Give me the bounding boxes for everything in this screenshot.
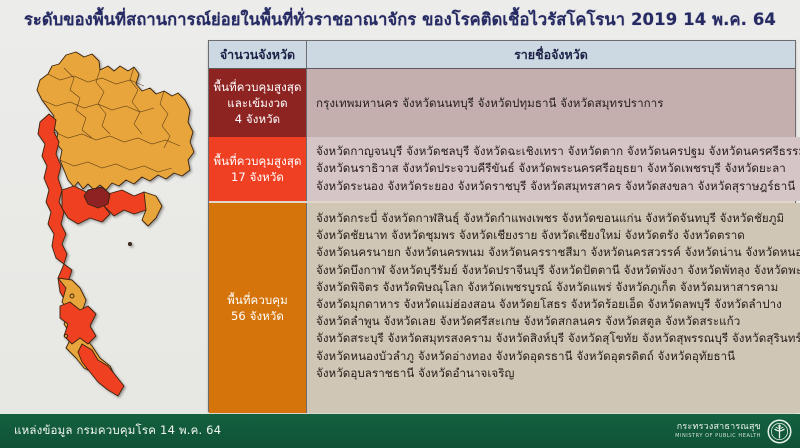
province-line: จังหวัดกาญจนบุรี จังหวัดชลบุรี จังหวัดฉะ… (316, 143, 800, 160)
zone-name: พื้นที่ควบคุมสูงสุด (213, 153, 301, 169)
province-list: จังหวัดกระบี่ จังหวัดกาฬสินธุ์ จังหวัดกำ… (316, 210, 800, 382)
zone-name: พื้นที่ควบคุม (227, 292, 288, 308)
province-line: จังหวัดสระบุรี จังหวัดสมุทรสงคราม จังหวั… (316, 330, 800, 347)
province-line: จังหวัดอุบลราชธานี จังหวัดอำนาจเจริญ (316, 365, 800, 382)
footer-source-text: แหล่งข้อมูล กรมควบคุมโรค 14 พ.ค. 64 (14, 422, 221, 440)
slide-root: ระดับของพื้นที่สถานการณ์ย่อยในพื้นที่ทั่… (0, 0, 800, 448)
moph-brand-english: MINISTRY OF PUBLIC HEALTH (675, 434, 761, 439)
province-line: จังหวัดนครนายก จังหวัดนครพนม จังหวัดนครร… (316, 244, 800, 261)
table-row: พื้นที่ควบคุม 56 จังหวัด จังหวัดกระบี่ จ… (209, 203, 795, 413)
province-line: จังหวัดระนอง จังหวัดระยอง จังหวัดราชบุรี… (316, 178, 800, 195)
table-header-count-col: จำนวนจังหวัด (209, 41, 307, 68)
province-line: จังหวัดมุกดาหาร จังหวัดแม่ฮ่องสอน จังหวั… (316, 296, 800, 313)
zone-summary-table: จำนวนจังหวัด รายชื่อจังหวัด พื้นที่ควบคุ… (208, 40, 796, 412)
zone-cell-max-strict: พื้นที่ควบคุมสูงสุด และเข้มงวด 4 จังหวัด (209, 69, 307, 137)
thailand-zone-map (4, 44, 208, 410)
province-line: จังหวัดกระบี่ จังหวัดกาฬสินธุ์ จังหวัดกำ… (316, 210, 800, 227)
map-island-1 (70, 294, 74, 298)
moph-emblem-icon (767, 419, 792, 444)
province-cell-max-strict: กรุงเทพมหานคร จังหวัดนนทบุรี จังหวัดปทุม… (307, 69, 795, 137)
zone-name-line2: และเข้มงวด (227, 95, 287, 111)
province-list: จังหวัดกาญจนบุรี จังหวัดชลบุรี จังหวัดฉะ… (316, 143, 800, 195)
thailand-map-svg (4, 44, 208, 410)
province-line: จังหวัดบึงกาฬ จังหวัดบุรีรัมย์ จังหวัดปร… (316, 262, 800, 279)
moph-brand-thai: กระทรวงสาธารณสุข (675, 423, 761, 432)
page-title: ระดับของพื้นที่สถานการณ์ย่อยในพื้นที่ทั่… (0, 8, 800, 32)
moph-brand-text: กระทรวงสาธารณสุข MINISTRY OF PUBLIC HEAL… (675, 423, 761, 439)
map-island-2 (64, 334, 67, 337)
province-cell-max: จังหวัดกาญจนบุรี จังหวัดชลบุรี จังหวัดฉะ… (307, 137, 800, 201)
page-title-text: ระดับของพื้นที่สถานการณ์ย่อยในพื้นที่ทั่… (24, 8, 776, 32)
table-row: พื้นที่ควบคุมสูงสุด 17 จังหวัด จังหวัดกา… (209, 137, 795, 201)
zone-count: 17 จังหวัด (231, 169, 284, 185)
zone-count: 56 จังหวัด (231, 308, 284, 324)
zone-cell-control: พื้นที่ควบคุม 56 จังหวัด (209, 203, 307, 413)
province-line: จังหวัดลำพูน จังหวัดเลย จังหวัดศรีสะเกษ … (316, 313, 800, 330)
province-line: จังหวัดชัยนาท จังหวัดชุมพร จังหวัดเชียงร… (316, 227, 800, 244)
province-cell-control: จังหวัดกระบี่ จังหวัดกาฬสินธุ์ จังหวัดกำ… (307, 203, 800, 413)
province-line: กรุงเทพมหานคร จังหวัดนนทบุรี จังหวัดปทุม… (316, 95, 664, 111)
zone-cell-max: พื้นที่ควบคุมสูงสุด 17 จังหวัด (209, 137, 307, 201)
table-header-list-col: รายชื่อจังหวัด (307, 41, 795, 68)
footer-bar: แหล่งข้อมูล กรมควบคุมโรค 14 พ.ค. 64 กระท… (0, 414, 800, 448)
table-row: พื้นที่ควบคุมสูงสุด และเข้มงวด 4 จังหวัด… (209, 69, 795, 137)
province-list: กรุงเทพมหานคร จังหวัดนนทบุรี จังหวัดปทุม… (316, 95, 664, 111)
map-island-3 (128, 242, 131, 245)
province-line: จังหวัดพิจิตร จังหวัดพิษณุโลก จังหวัดเพช… (316, 279, 800, 296)
moph-brand: กระทรวงสาธารณสุข MINISTRY OF PUBLIC HEAL… (675, 419, 792, 444)
zone-count: 4 จังหวัด (235, 111, 281, 127)
table-header-row: จำนวนจังหวัด รายชื่อจังหวัด (209, 41, 795, 69)
map-region-south-red-2 (78, 344, 124, 396)
province-line: จังหวัดนราธิวาส จังหวัดประจวบคีรีขันธ์ จ… (316, 160, 800, 177)
zone-name: พื้นที่ควบคุมสูงสุด (213, 79, 301, 95)
province-line: จังหวัดหนองบัวลำภู จังหวัดอ่างทอง จังหวั… (316, 348, 800, 365)
